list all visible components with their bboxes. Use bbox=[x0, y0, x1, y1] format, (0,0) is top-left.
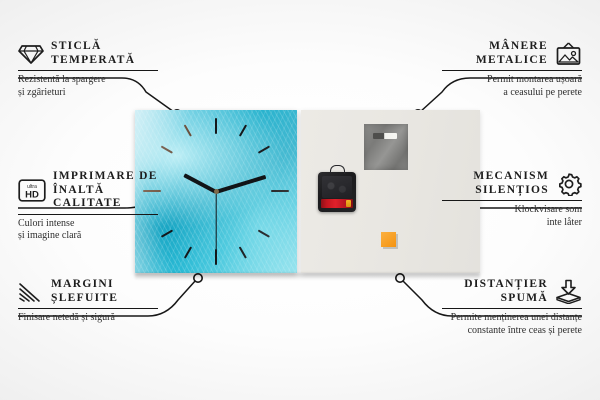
photo-shadow bbox=[135, 273, 480, 280]
callout-rule bbox=[18, 308, 158, 309]
callout-rule bbox=[442, 308, 582, 309]
diamond-icon bbox=[18, 43, 44, 65]
callout-subtitle: Permite menținerea unei distanțe constan… bbox=[442, 312, 582, 336]
metal-hanger bbox=[364, 124, 408, 170]
gear-icon bbox=[556, 172, 582, 196]
callout-title: DISTANȚIER SPUMĂ bbox=[464, 278, 548, 305]
foam-spacer bbox=[381, 232, 396, 247]
polished-edges-icon bbox=[18, 281, 44, 303]
callout-subtitle: Finisare netedă și sigură bbox=[18, 312, 158, 324]
product-photo bbox=[135, 110, 480, 275]
callout-title: MÂNERE METALICE bbox=[476, 40, 548, 67]
callout-title: STICLĂ TEMPERATĂ bbox=[51, 40, 135, 67]
callout-subtitle: Rezistentă la spargere și zgârieturi bbox=[18, 74, 158, 98]
battery bbox=[321, 199, 353, 208]
callout-subtitle: Culori intense și imagine clară bbox=[18, 218, 158, 242]
callout-high-quality-print[interactable]: ultra HD IMPRIMARE DE ÎNALTĂ CALITATE Cu… bbox=[18, 170, 158, 242]
callout-foam-spacer[interactable]: DISTANȚIER SPUMĂ Permite menținerea unei… bbox=[442, 278, 582, 337]
glass-clock-front bbox=[135, 110, 297, 273]
hanger-slot bbox=[373, 133, 397, 139]
clock-movement bbox=[318, 172, 356, 212]
callout-subtitle: Klockvisare som inte låter bbox=[442, 204, 582, 228]
callout-title: MECANISM SILENȚIOS bbox=[473, 170, 549, 197]
callout-rule bbox=[442, 200, 582, 201]
callout-subtitle: Permit montarea ușoară a ceasului pe per… bbox=[442, 74, 582, 98]
callout-polished-edges[interactable]: MARGINI ȘLEFUITE Finisare netedă și sigu… bbox=[18, 278, 158, 325]
callout-tempered-glass[interactable]: STICLĂ TEMPERATĂ Rezistentă la spargere … bbox=[18, 40, 158, 99]
callout-title: IMPRIMARE DE ÎNALTĂ CALITATE bbox=[53, 170, 158, 211]
callout-silent-mechanism[interactable]: MECANISM SILENȚIOS Klockvisare som inte … bbox=[442, 170, 582, 229]
svg-text:HD: HD bbox=[25, 189, 39, 200]
ultra-hd-icon: ultra HD bbox=[18, 179, 46, 202]
movement-plate bbox=[322, 176, 352, 198]
clock-hub bbox=[214, 189, 219, 194]
callout-title: MARGINI ȘLEFUITE bbox=[51, 278, 118, 305]
callout-rule bbox=[442, 70, 582, 71]
movement-loop bbox=[330, 165, 345, 174]
callout-rule bbox=[18, 214, 158, 215]
hanging-frame-icon bbox=[555, 42, 582, 66]
infographic-stage: STICLĂ TEMPERATĂ Rezistentă la spargere … bbox=[0, 0, 600, 400]
callout-metal-handles[interactable]: MÂNERE METALICE Permit montarea ușoară a… bbox=[442, 40, 582, 99]
spacer-arrow-icon bbox=[555, 279, 582, 304]
callout-rule bbox=[18, 70, 158, 71]
